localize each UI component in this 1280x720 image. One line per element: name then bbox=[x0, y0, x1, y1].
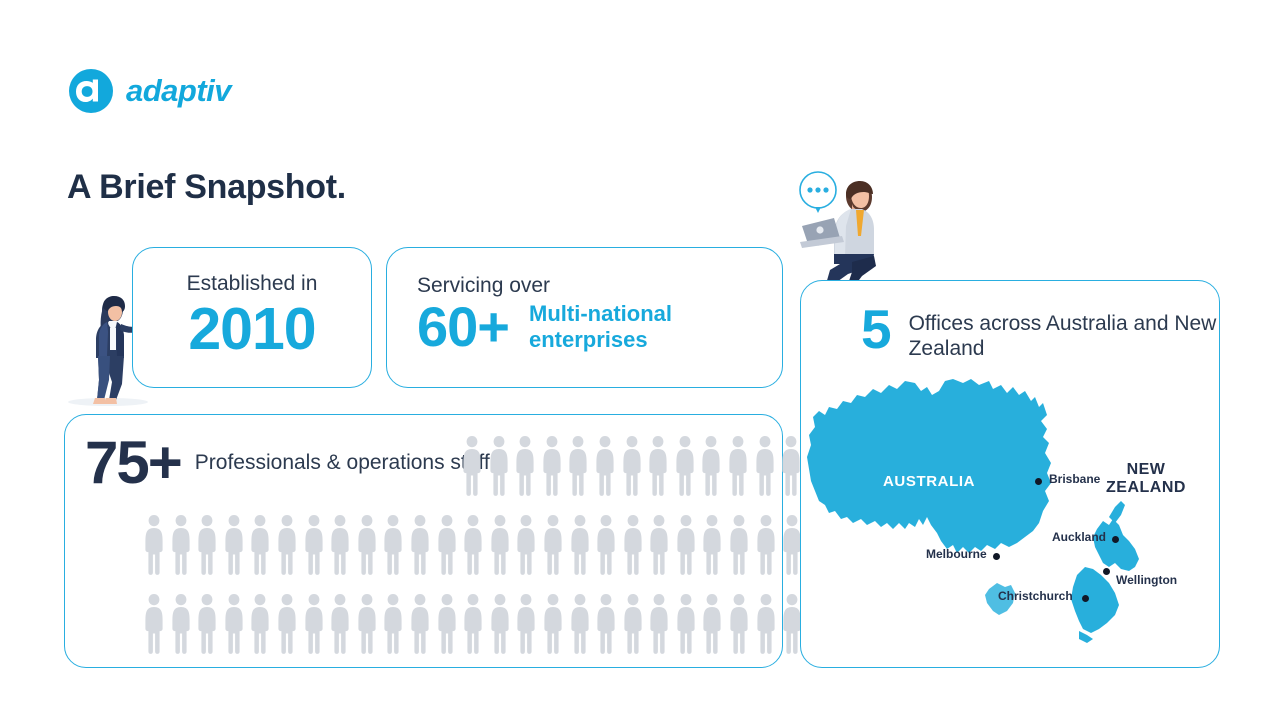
person-icon bbox=[541, 435, 563, 497]
person-icon bbox=[409, 593, 431, 655]
person-icon bbox=[249, 514, 271, 576]
stat-card-established: Established in 2010 bbox=[132, 247, 372, 388]
person-icon bbox=[436, 514, 458, 576]
people-row bbox=[143, 593, 803, 655]
map-region-label-new-zealand: NEWZEALAND bbox=[1101, 461, 1191, 498]
person-icon bbox=[382, 593, 404, 655]
person-icon bbox=[542, 593, 564, 655]
man-with-laptop-illustration bbox=[782, 166, 894, 286]
map-dot-auckland bbox=[1112, 536, 1119, 543]
person-icon bbox=[170, 593, 192, 655]
person-icon bbox=[595, 593, 617, 655]
person-icon bbox=[170, 514, 192, 576]
servicing-value: 60+ bbox=[417, 299, 509, 355]
person-icon bbox=[675, 514, 697, 576]
person-icon bbox=[622, 593, 644, 655]
stat-card-offices: 5 Offices across Australia and New Zeala… bbox=[800, 280, 1220, 668]
person-icon bbox=[223, 514, 245, 576]
servicing-caption: Servicing over bbox=[417, 274, 782, 297]
person-icon bbox=[515, 593, 537, 655]
person-icon bbox=[648, 514, 670, 576]
anz-map: AUSTRALIA NEWZEALAND Brisbane Melbourne … bbox=[803, 377, 1219, 653]
stat-card-servicing: Servicing over 60+ Multi-national enterp… bbox=[386, 247, 783, 388]
map-city-label-auckland: Auckland bbox=[1052, 530, 1106, 544]
person-icon bbox=[489, 514, 511, 576]
person-icon bbox=[356, 514, 378, 576]
person-icon bbox=[594, 435, 616, 497]
person-icon bbox=[621, 435, 643, 497]
person-icon bbox=[701, 593, 723, 655]
person-icon bbox=[780, 435, 802, 497]
stat-card-staff: 75+ Professionals & operations staff bbox=[64, 414, 783, 668]
person-icon bbox=[196, 593, 218, 655]
brand-logo[interactable]: adaptiv bbox=[68, 68, 231, 114]
person-icon bbox=[727, 435, 749, 497]
person-icon bbox=[701, 514, 723, 576]
person-icon bbox=[143, 514, 165, 576]
map-dot-melbourne bbox=[993, 553, 1000, 560]
map-city-label-melbourne: Melbourne bbox=[926, 547, 987, 561]
people-row bbox=[143, 514, 803, 576]
person-icon bbox=[409, 514, 431, 576]
people-pictogram-grid bbox=[65, 415, 782, 667]
person-icon bbox=[489, 593, 511, 655]
person-icon bbox=[303, 593, 325, 655]
person-icon bbox=[436, 593, 458, 655]
person-icon bbox=[303, 514, 325, 576]
map-region-label-australia: AUSTRALIA bbox=[883, 473, 975, 490]
person-icon bbox=[514, 435, 536, 497]
person-icon bbox=[143, 593, 165, 655]
map-city-label-wellington: Wellington bbox=[1116, 573, 1177, 587]
person-icon bbox=[515, 514, 537, 576]
offices-value: 5 bbox=[861, 303, 891, 355]
page-title: A Brief Snapshot. bbox=[67, 168, 346, 207]
person-icon bbox=[595, 514, 617, 576]
map-dot-brisbane bbox=[1035, 478, 1042, 485]
map-city-label-christchurch: Christchurch bbox=[998, 589, 1073, 603]
anz-map-svg bbox=[803, 377, 1219, 653]
person-icon bbox=[542, 514, 564, 576]
person-icon bbox=[728, 593, 750, 655]
person-icon bbox=[329, 593, 351, 655]
map-dot-wellington bbox=[1103, 568, 1110, 575]
map-city-label-brisbane: Brisbane bbox=[1049, 472, 1100, 486]
person-icon bbox=[569, 514, 591, 576]
established-value: 2010 bbox=[188, 300, 315, 359]
person-icon bbox=[754, 435, 776, 497]
person-icon bbox=[648, 593, 670, 655]
person-icon bbox=[567, 435, 589, 497]
servicing-label: Multi-national enterprises bbox=[529, 301, 782, 353]
offices-label: Offices across Australia and New Zealand bbox=[909, 303, 1219, 361]
person-icon bbox=[755, 514, 777, 576]
person-icon bbox=[249, 593, 271, 655]
adaptiv-circle-a-icon bbox=[68, 68, 114, 114]
brand-logo-text: adaptiv bbox=[126, 73, 231, 109]
person-icon bbox=[223, 593, 245, 655]
person-icon bbox=[622, 514, 644, 576]
slide-canvas: adaptiv A Brief Snapshot. bbox=[0, 0, 1280, 720]
person-icon bbox=[276, 593, 298, 655]
person-icon bbox=[700, 435, 722, 497]
person-icon bbox=[728, 514, 750, 576]
person-icon bbox=[356, 593, 378, 655]
person-icon bbox=[674, 435, 696, 497]
established-caption: Established in bbox=[187, 272, 318, 295]
person-icon bbox=[488, 435, 510, 497]
person-icon bbox=[196, 514, 218, 576]
person-icon bbox=[462, 593, 484, 655]
people-row bbox=[461, 435, 802, 497]
person-icon bbox=[382, 514, 404, 576]
person-icon bbox=[276, 514, 298, 576]
person-icon bbox=[329, 514, 351, 576]
person-icon bbox=[569, 593, 591, 655]
person-icon bbox=[647, 435, 669, 497]
offices-headline: 5 Offices across Australia and New Zeala… bbox=[861, 303, 1219, 361]
person-icon bbox=[755, 593, 777, 655]
person-icon bbox=[462, 514, 484, 576]
person-icon bbox=[675, 593, 697, 655]
map-dot-christchurch bbox=[1082, 595, 1089, 602]
person-icon bbox=[461, 435, 483, 497]
